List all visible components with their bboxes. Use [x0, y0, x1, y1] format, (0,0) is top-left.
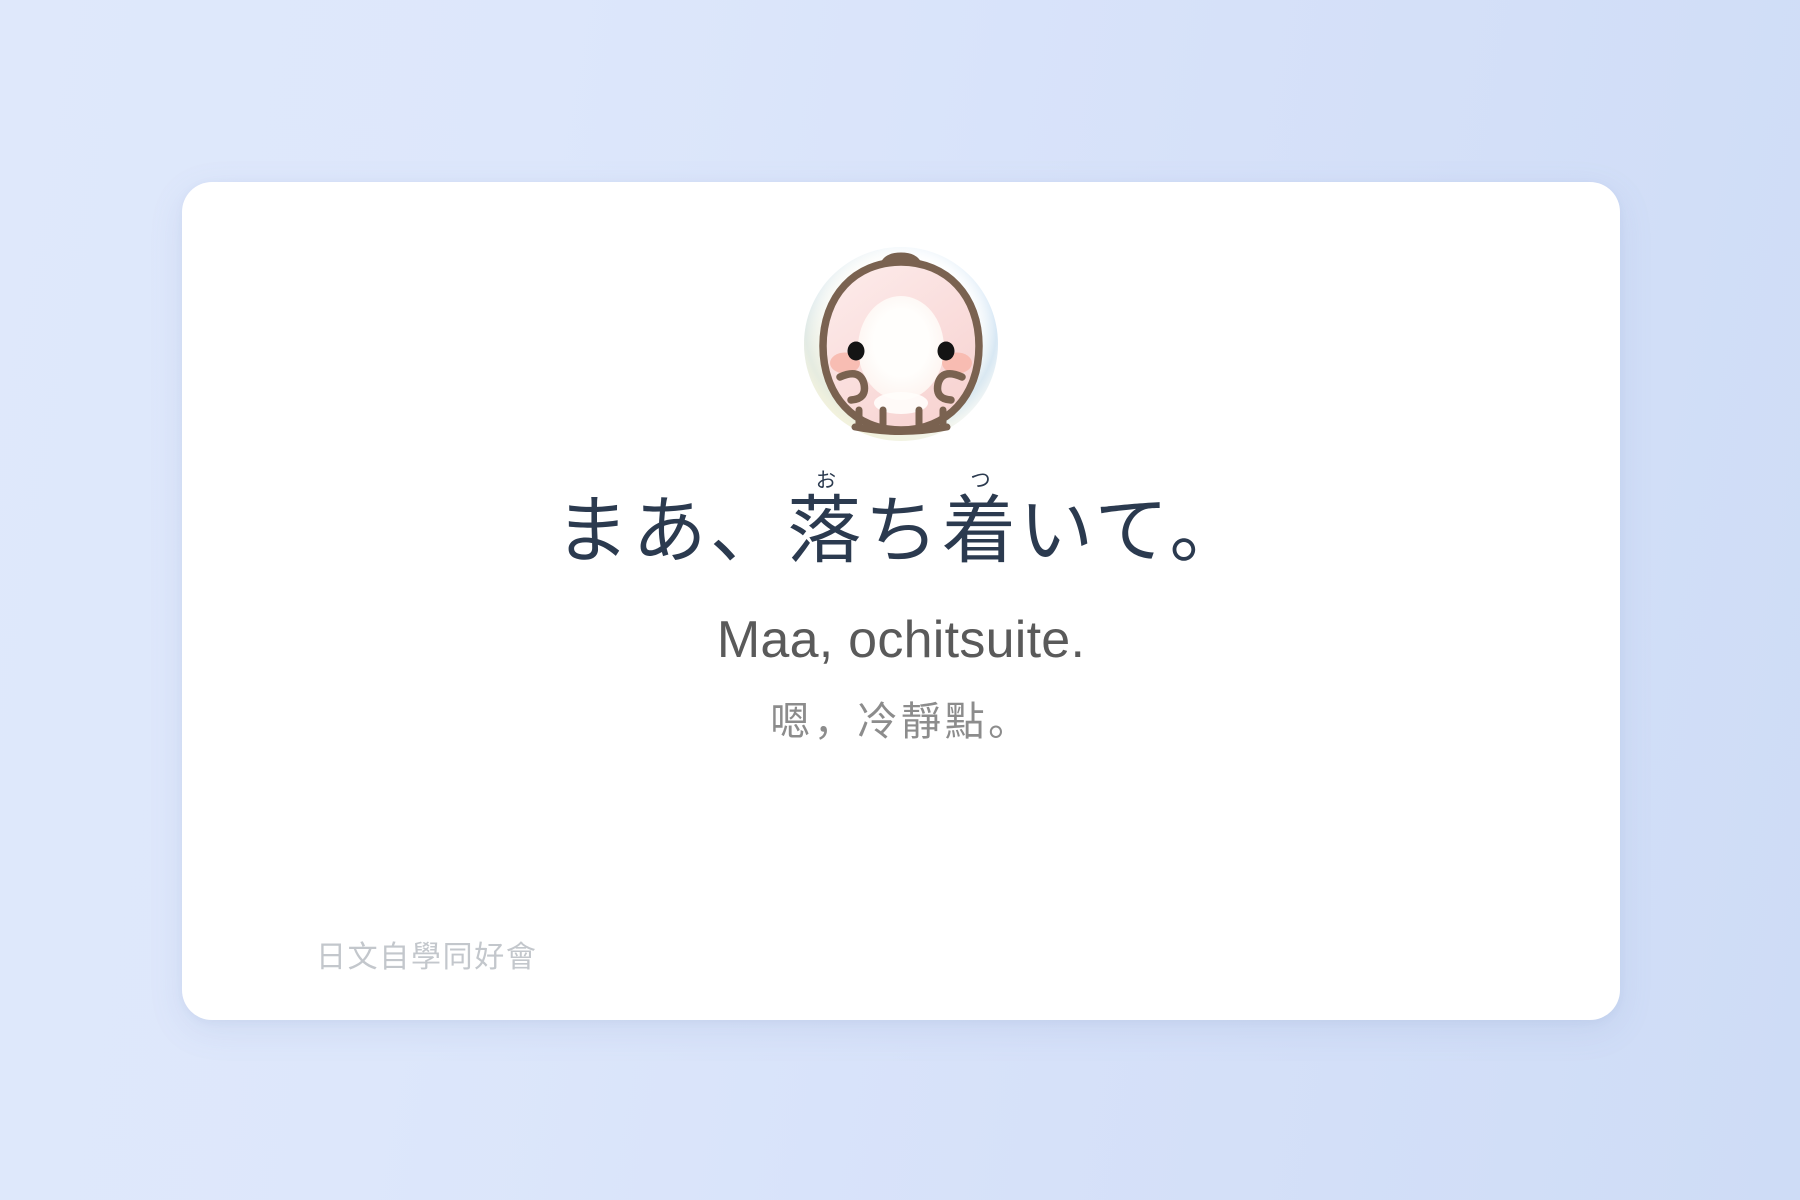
jp-seg-2: 、	[710, 489, 787, 572]
jp-seg-0: ま	[555, 489, 632, 572]
eye-left	[848, 342, 865, 361]
mascot-container	[182, 240, 1620, 448]
jp-seg-5-ruby: 着つ	[942, 489, 1019, 572]
jp-seg-4: ち	[865, 489, 942, 572]
japanese-phrase: まあ、落おち着ついて。	[182, 470, 1620, 570]
phrase-card: まあ、落おち着ついて。 Maa, ochitsuite. 嗯，冷靜點。 日文自學…	[182, 182, 1620, 1020]
phrase-text-block: まあ、落おち着ついて。 Maa, ochitsuite. 嗯，冷靜點。	[182, 470, 1620, 746]
footer-attribution: 日文自學同好會	[316, 940, 538, 976]
jp-seg-7: て	[1094, 489, 1169, 572]
jp-seg-3-ruby: 落お	[787, 489, 864, 572]
romaji-text: Maa, ochitsuite.	[182, 612, 1620, 669]
jp-seg-8: 。	[1169, 489, 1246, 572]
furigana-ochi: お	[787, 470, 864, 492]
page-background: まあ、落おち着ついて。 Maa, ochitsuite. 嗯，冷靜點。 日文自學…	[0, 0, 1800, 1200]
mascot-illustration	[797, 240, 1005, 448]
round-pink-creature-mascot-icon	[797, 240, 1005, 448]
jp-seg-3: 落	[787, 489, 864, 572]
eye-right	[938, 342, 955, 361]
translation-text: 嗯，冷靜點。	[182, 698, 1620, 746]
jp-seg-1: あ	[633, 489, 710, 572]
jp-seg-5: 着	[942, 489, 1019, 572]
jp-seg-6: い	[1019, 489, 1094, 572]
furigana-tsu: つ	[942, 470, 1019, 492]
